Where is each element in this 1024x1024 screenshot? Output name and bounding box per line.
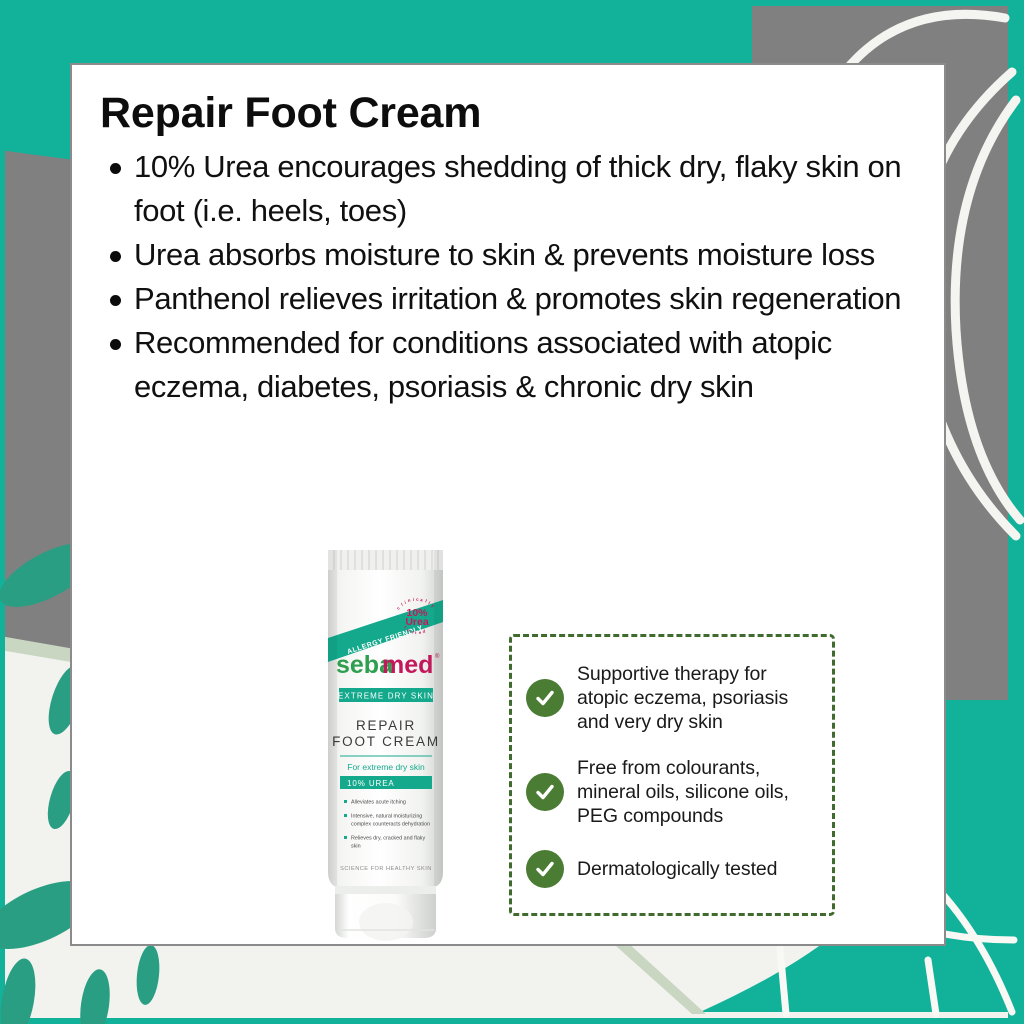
content-card: Repair Foot Cream 10% Urea encourages sh… [70, 63, 946, 946]
benefits-panel: Supportive therapy for atopic eczema, ps… [509, 634, 835, 916]
tube-tagline: SCIENCE FOR HEALTHY SKIN [340, 866, 432, 872]
urea-band-text: 10% UREA [347, 779, 395, 788]
product-name-line2: FOOT CREAM [332, 734, 440, 749]
benefit-item: Free from colourants, mineral oils, sili… [512, 756, 832, 828]
bullet-text: Urea absorbs moisture to skin & prevents… [134, 237, 875, 272]
urea-badge-label: Urea [405, 616, 429, 628]
poster-canvas: Repair Foot Cream 10% Urea encourages sh… [0, 0, 1024, 1024]
product-subtitle: For extreme dry skin [347, 762, 425, 772]
check-circle-icon [526, 773, 564, 811]
list-item: Panthenol relieves irritation & promotes… [92, 277, 937, 321]
benefit-text: Dermatologically tested [577, 857, 777, 881]
tube-feature-1: Alleviates acute itching [351, 800, 406, 806]
bullet-text: 10% Urea encourages shedding of thick dr… [134, 149, 901, 228]
bullet-dot-icon [110, 339, 121, 350]
list-item: 10% Urea encourages shedding of thick dr… [92, 145, 937, 233]
tube-feature-3a: Relieves dry, cracked and flaky [351, 836, 426, 842]
bullet-dot-icon [110, 163, 121, 174]
page-title: Repair Foot Cream [100, 89, 481, 138]
tube-feature-3b: skin [351, 844, 361, 850]
benefit-text: Free from colourants, mineral oils, sili… [577, 756, 818, 828]
product-name-line1: REPAIR [356, 718, 416, 733]
list-item: Urea absorbs moisture to skin & prevents… [92, 233, 937, 277]
benefit-item: Supportive therapy for atopic eczema, ps… [512, 662, 832, 734]
benefit-item: Dermatologically tested [512, 850, 832, 888]
benefit-text: Supportive therapy for atopic eczema, ps… [577, 662, 818, 734]
bullet-dot-icon [110, 251, 121, 262]
check-circle-icon [526, 850, 564, 888]
svg-text:i: i [413, 597, 414, 602]
bullet-dot-icon [110, 295, 121, 306]
bullet-text: Recommended for conditions associated wi… [134, 325, 832, 404]
check-circle-icon [526, 679, 564, 717]
tube-feature-2a: Intensive, natural moisturizing [351, 814, 422, 820]
bullet-text: Panthenol relieves irritation & promotes… [134, 281, 901, 316]
tube-feature-2b: complex counteracts dehydration [351, 822, 430, 828]
product-tube-image: ALLERGY FRIENDLY c l i n i c a l [316, 542, 455, 942]
skin-type-band-text: EXTREME DRY SKIN [338, 692, 434, 701]
brand-med: med [382, 651, 433, 679]
list-item: Recommended for conditions associated wi… [92, 321, 937, 409]
tube-cap [335, 886, 436, 941]
sebamed-logo: seba med ® [336, 651, 440, 679]
feature-bullet-list: 10% Urea encourages shedding of thick dr… [92, 145, 937, 409]
